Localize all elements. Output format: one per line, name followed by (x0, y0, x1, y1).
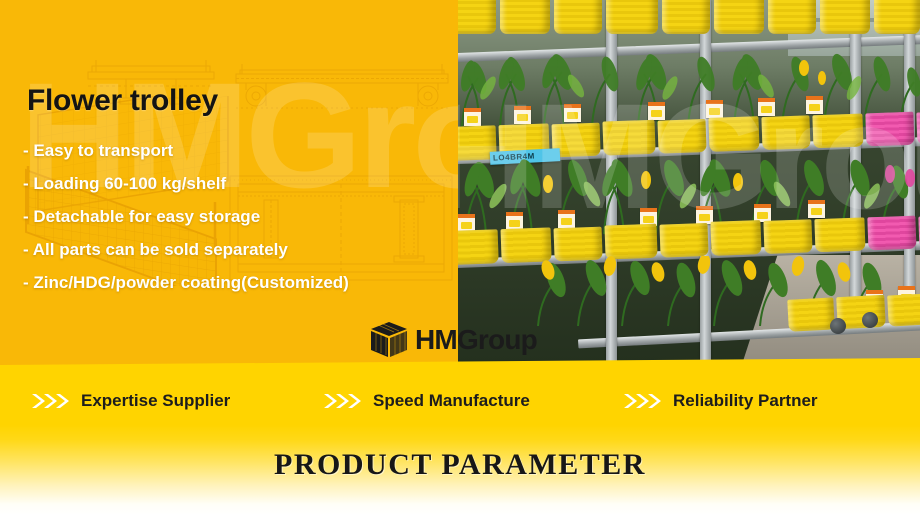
bullet-item: - Easy to transport (23, 142, 443, 159)
product-banner: HMGroup (0, 0, 920, 515)
triple-chevron-icon (32, 393, 72, 409)
feature-expertise-supplier: Expertise Supplier (32, 386, 230, 416)
triple-chevron-icon (624, 393, 664, 409)
brand-logo: HMGroup (368, 320, 537, 360)
bullet-item: - Zinc/HDG/powder coating(Customized) (23, 274, 443, 291)
bullet-item: - Detachable for easy storage (23, 208, 443, 225)
bullet-item: - Loading 60-100 kg/shelf (23, 175, 443, 192)
feature-label: Speed Manufacture (373, 391, 530, 411)
footer-heading: PRODUCT PARAMETER (0, 448, 920, 482)
feature-label: Expertise Supplier (81, 391, 230, 411)
logo-text: HMGroup (415, 324, 537, 356)
feature-reliability-partner: Reliability Partner (624, 386, 818, 416)
bullet-item: - All parts can be sold separately (23, 241, 443, 258)
triple-chevron-icon (324, 393, 364, 409)
feature-bullet-list: - Easy to transport - Loading 60-100 kg/… (23, 142, 443, 307)
feature-label: Reliability Partner (673, 391, 818, 411)
feature-speed-manufacture: Speed Manufacture (324, 386, 530, 416)
page-title: Flower trolley (27, 84, 218, 118)
feature-tagline-row: Expertise Supplier Speed Manufacture (0, 386, 920, 416)
greenhouse-photo: LO4BR4M (458, 0, 920, 365)
box-cube-icon (368, 320, 410, 360)
